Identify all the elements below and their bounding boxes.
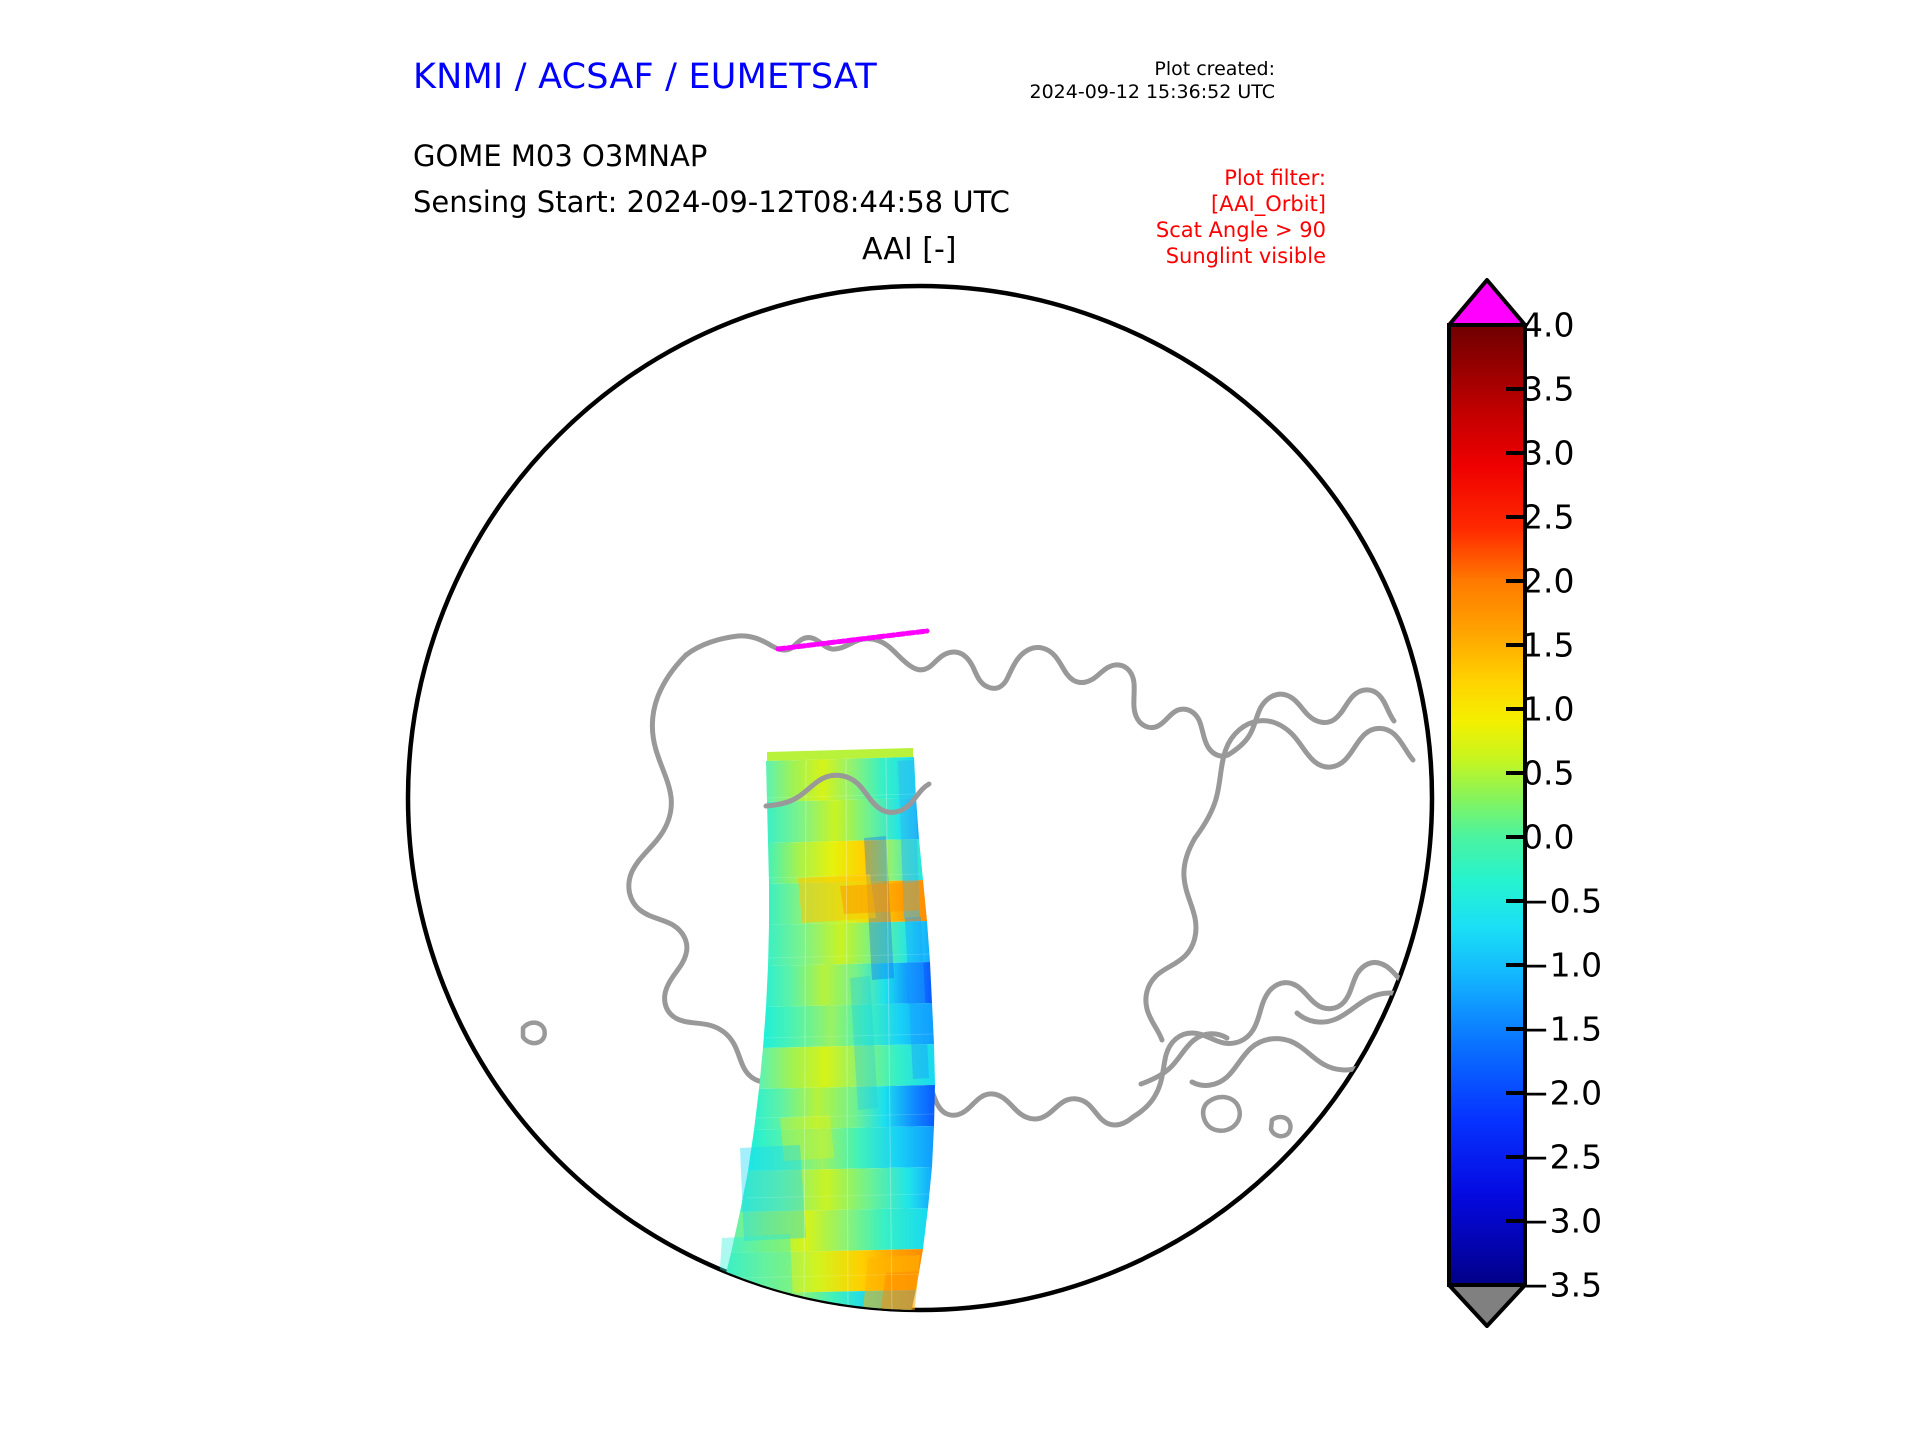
colorbar-tick-label: 1.0 [1522, 690, 1574, 729]
colorbar-tick-label: 2.5 [1522, 498, 1574, 537]
colorbar-tick-label: −3.0 [1522, 1202, 1602, 1241]
plot-filter-sunglint: Sunglint visible [866, 243, 1326, 269]
organisation-title: KNMI / ACSAF / EUMETSAT [413, 57, 877, 97]
map-svg [400, 278, 1440, 1318]
colorbar-tick-label: 0.0 [1522, 818, 1574, 857]
colorbar-tick-label: −1.0 [1522, 946, 1602, 985]
colorbar-tick-labels: 4.0 3.5 3.0 2.5 2.0 1.5 1.0 0.5 0.0 −0.5… [1522, 278, 1752, 1328]
colorbar-over-arrow [1449, 280, 1525, 325]
colorbar-under-arrow [1449, 1285, 1525, 1326]
colorbar-tick-label: 3.0 [1522, 434, 1574, 473]
colorbar-tick-label: −3.5 [1522, 1266, 1602, 1305]
colorbar-panel: 4.0 3.5 3.0 2.5 2.0 1.5 1.0 0.5 0.0 −0.5… [1430, 278, 1760, 1328]
colorbar-tick-label: 2.0 [1522, 562, 1574, 601]
colorbar-tick-label: −2.0 [1522, 1074, 1602, 1113]
plot-canvas: KNMI / ACSAF / EUMETSAT GOME M03 O3MNAP … [0, 0, 1920, 1440]
colorbar-tick-label: 3.5 [1522, 370, 1574, 409]
plot-filter-label: Plot filter: [866, 165, 1326, 191]
colorbar-gradient [1449, 325, 1525, 1285]
plot-filter-scat-angle: Scat Angle > 90 [866, 217, 1326, 243]
colorbar-tick-label: −1.5 [1522, 1010, 1602, 1049]
colorbar-tick-label: −2.5 [1522, 1138, 1602, 1177]
colorbar-tick-label: −0.5 [1522, 882, 1602, 921]
product-title: GOME M03 O3MNAP [413, 139, 707, 173]
colorbar-tick-label: 1.5 [1522, 626, 1574, 665]
colorbar-tick-label: 4.0 [1522, 306, 1574, 345]
plot-filter-block: Plot filter: [AAI_Orbit] Scat Angle > 90… [866, 165, 1326, 269]
plot-created-label: Plot created: [855, 58, 1275, 81]
colorbar-tick-label: 0.5 [1522, 754, 1574, 793]
plot-created-block: Plot created: 2024-09-12 15:36:52 UTC [855, 58, 1275, 104]
plot-filter-name: [AAI_Orbit] [866, 191, 1326, 217]
map-panel [400, 278, 1440, 1318]
plot-created-value: 2024-09-12 15:36:52 UTC [855, 81, 1275, 104]
